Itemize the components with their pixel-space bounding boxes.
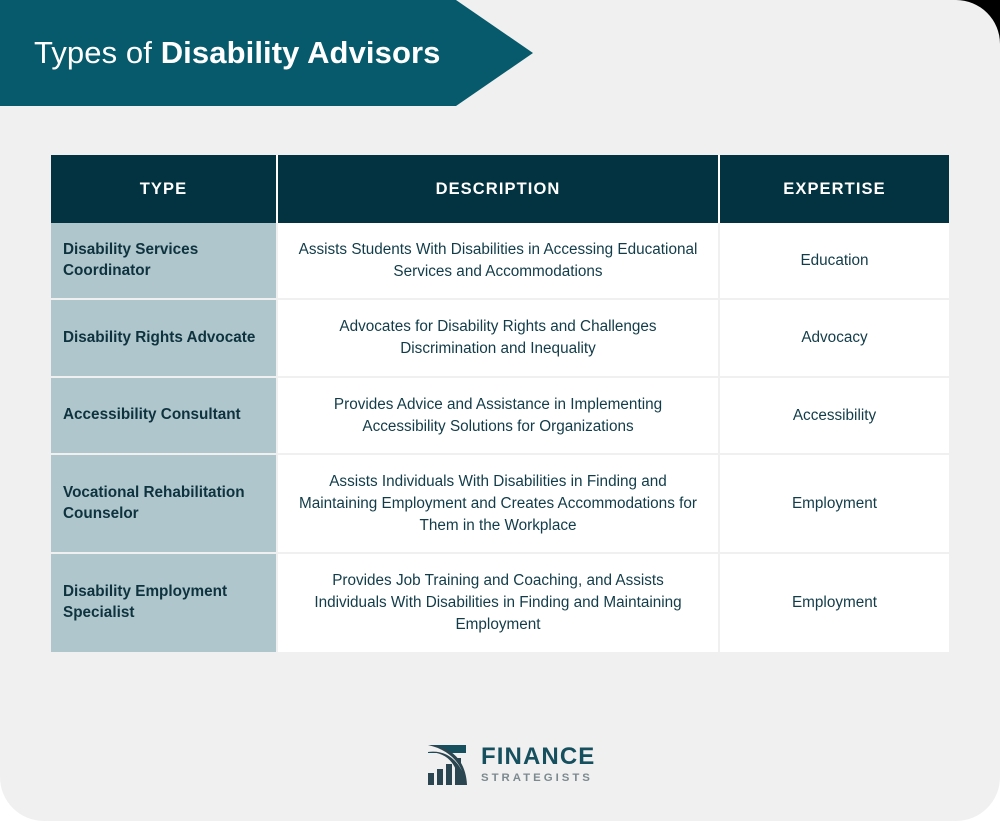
cell-type: Disability Rights Advocate	[51, 300, 278, 377]
cell-type: Vocational Rehabilitation Counselor	[51, 455, 278, 554]
cell-type: Disability Services Coordinator	[51, 223, 278, 300]
header-ribbon: Types of Disability Advisors	[0, 0, 533, 106]
cell-expertise: Employment	[720, 554, 949, 651]
cell-type: Disability Employment Specialist	[51, 554, 278, 651]
page-title-bold: Disability Advisors	[161, 35, 441, 70]
table-header-row: TYPE DESCRIPTION EXPERTISE	[51, 155, 949, 223]
cell-description: Assists Individuals With Disabilities in…	[278, 455, 720, 554]
cell-expertise: Education	[720, 223, 949, 300]
cell-expertise: Advocacy	[720, 300, 949, 377]
cell-description: Provides Advice and Assistance in Implem…	[278, 378, 720, 455]
logo-arc-bars-icon	[426, 743, 472, 787]
table-row: Vocational Rehabilitation Counselor Assi…	[51, 455, 949, 554]
finance-strategists-logo: FINANCE STRATEGISTS	[426, 742, 578, 788]
logo-primary-text: FINANCE	[481, 745, 595, 769]
cell-expertise: Accessibility	[720, 378, 949, 455]
table-row: Accessibility Consultant Provides Advice…	[51, 378, 949, 455]
table-row: Disability Rights Advocate Advocates for…	[51, 300, 949, 377]
cell-description: Provides Job Training and Coaching, and …	[278, 554, 720, 651]
table-row: Disability Employment Specialist Provide…	[51, 554, 949, 651]
logo-secondary-text: STRATEGISTS	[481, 773, 595, 784]
cell-expertise: Employment	[720, 455, 949, 554]
column-header-description: DESCRIPTION	[278, 155, 720, 223]
table-head: TYPE DESCRIPTION EXPERTISE	[51, 155, 949, 223]
logo-wordmark: FINANCE STRATEGISTS	[481, 745, 595, 784]
table-body: Disability Services Coordinator Assists …	[51, 223, 949, 652]
table-row: Disability Services Coordinator Assists …	[51, 223, 949, 300]
advisor-types-table: TYPE DESCRIPTION EXPERTISE Disability Se…	[51, 155, 949, 652]
page-title-regular: Types of	[34, 35, 161, 70]
page-title: Types of Disability Advisors	[34, 35, 441, 71]
advisor-table-wrapper: TYPE DESCRIPTION EXPERTISE Disability Se…	[51, 155, 949, 652]
cell-description: Advocates for Disability Rights and Chal…	[278, 300, 720, 377]
column-header-type: TYPE	[51, 155, 278, 223]
infographic-page: Types of Disability Advisors TYPE DESCRI…	[0, 0, 1000, 821]
column-header-expertise: EXPERTISE	[720, 155, 949, 223]
cell-description: Assists Students With Disabilities in Ac…	[278, 223, 720, 300]
cell-type: Accessibility Consultant	[51, 378, 278, 455]
